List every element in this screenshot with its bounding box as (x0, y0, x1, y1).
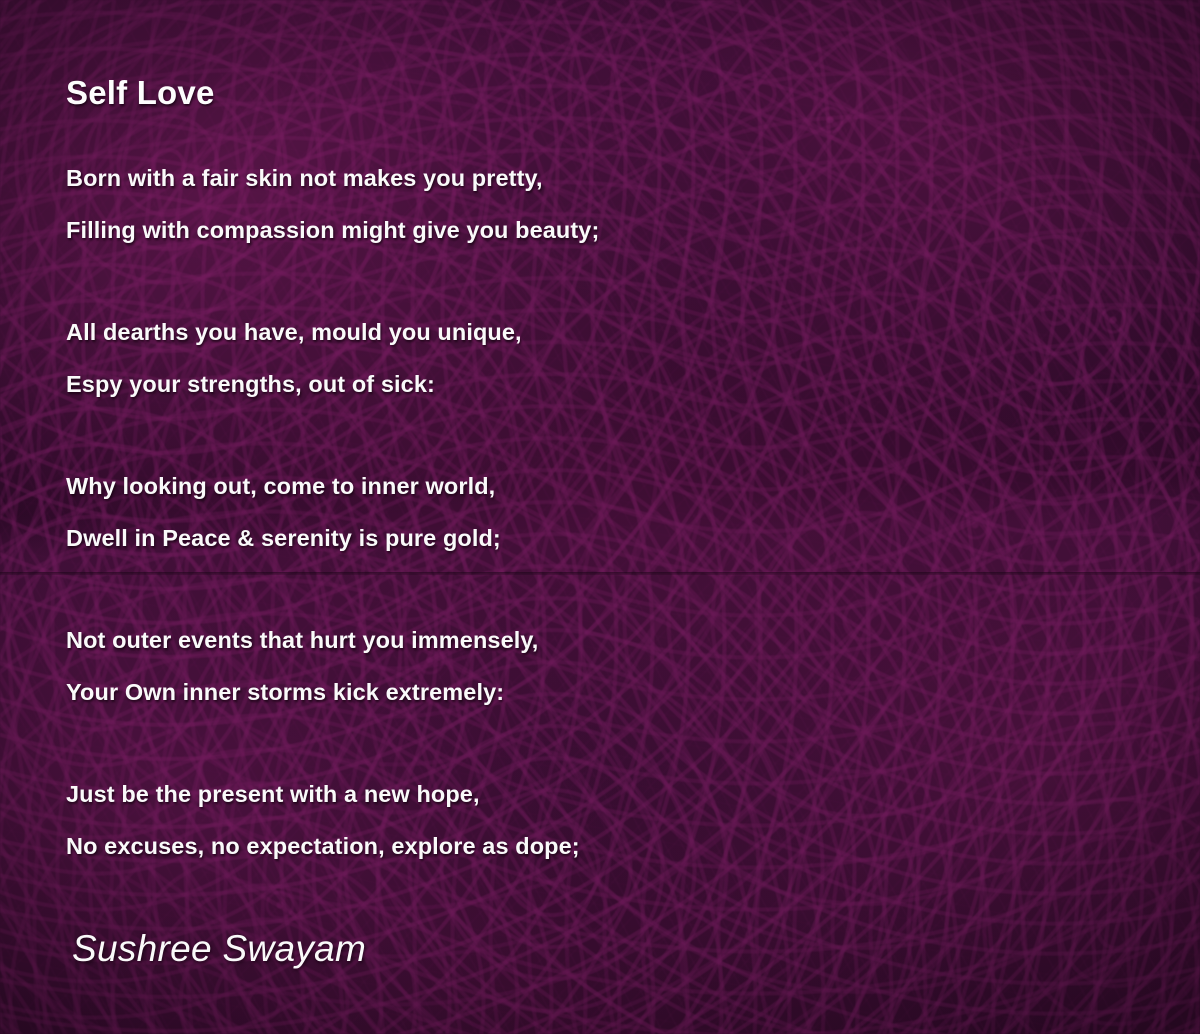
poem-line: Not outer events that hurt you immensely… (66, 614, 1146, 666)
stanza: Why looking out, come to inner world, Dw… (66, 460, 1146, 564)
stanza: Just be the present with a new hope, No … (66, 768, 1146, 872)
stanza: Not outer events that hurt you immensely… (66, 614, 1146, 718)
poem-body: Born with a fair skin not makes you pret… (66, 152, 1146, 922)
poem-title: Self Love (66, 74, 215, 112)
poem-author-signature: Sushree Swayam (72, 928, 366, 970)
poem-line: Your Own inner storms kick extremely: (66, 666, 1146, 718)
poem-line: Dwell in Peace & serenity is pure gold; (66, 512, 1146, 564)
poem-line: Just be the present with a new hope, (66, 768, 1146, 820)
poem-line: Why looking out, come to inner world, (66, 460, 1146, 512)
poem-line: Born with a fair skin not makes you pret… (66, 152, 1146, 204)
poem-line: Filling with compassion might give you b… (66, 204, 1146, 256)
poem-line: No excuses, no expectation, explore as d… (66, 820, 1146, 872)
poem-line: All dearths you have, mould you unique, (66, 306, 1146, 358)
poem-line: Espy your strengths, out of sick: (66, 358, 1146, 410)
stanza: All dearths you have, mould you unique, … (66, 306, 1146, 410)
stanza: Born with a fair skin not makes you pret… (66, 152, 1146, 256)
poem-content: Self Love Born with a fair skin not make… (0, 0, 1200, 1034)
poem-image-card: Self Love Born with a fair skin not make… (0, 0, 1200, 1034)
